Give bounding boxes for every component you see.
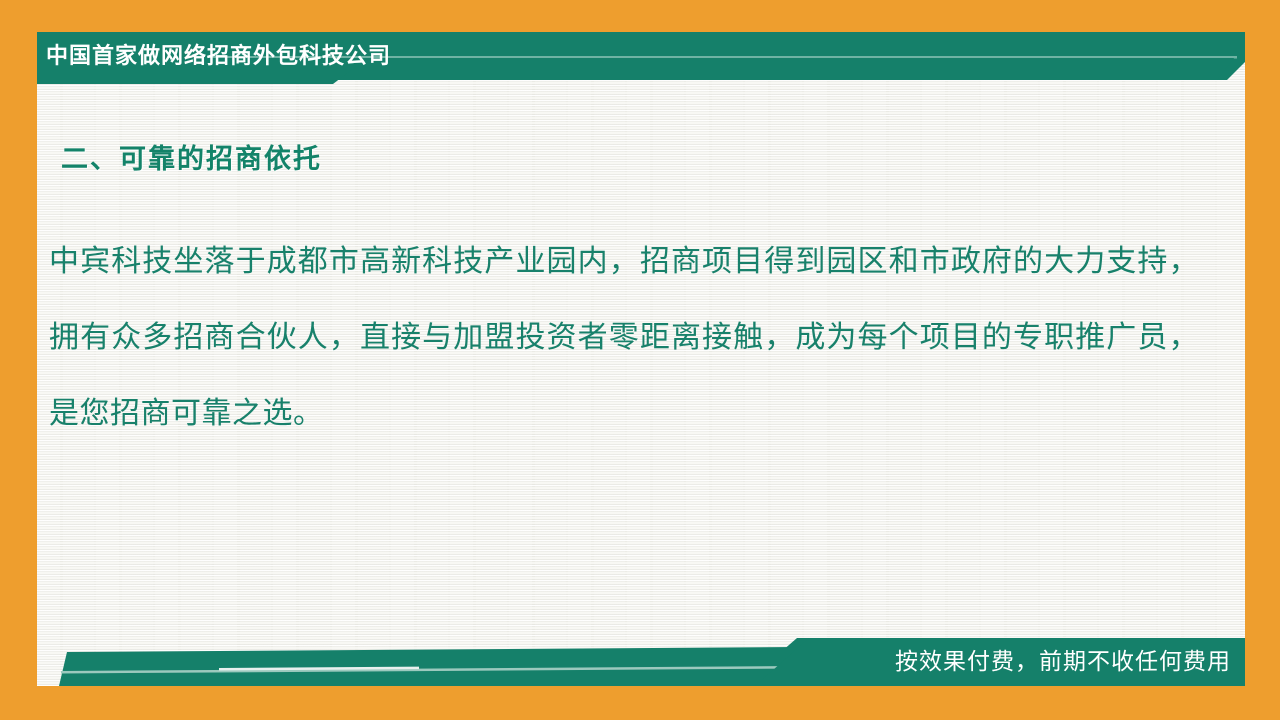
footer-short-accent-line bbox=[219, 667, 419, 671]
header-title: 中国首家做网络招商外包科技公司 bbox=[46, 38, 686, 76]
section-heading: 二、可靠的招商依托 bbox=[61, 137, 322, 176]
body-paragraph: 中宾科技坐落于成都市高新科技产业园内，招商项目得到园区和市政府的大力支持，拥有众… bbox=[49, 224, 1199, 452]
slide-content-panel: 中国首家做网络招商外包科技公司 二、可靠的招商依托 中宾科技坐落于成都市高新科技… bbox=[37, 32, 1245, 686]
footer-tagline: 按效果付费，前期不收任何费用 bbox=[895, 642, 1231, 676]
presentation-slide: 中国首家做网络招商外包科技公司 二、可靠的招商依托 中宾科技坐落于成都市高新科技… bbox=[0, 0, 1280, 720]
